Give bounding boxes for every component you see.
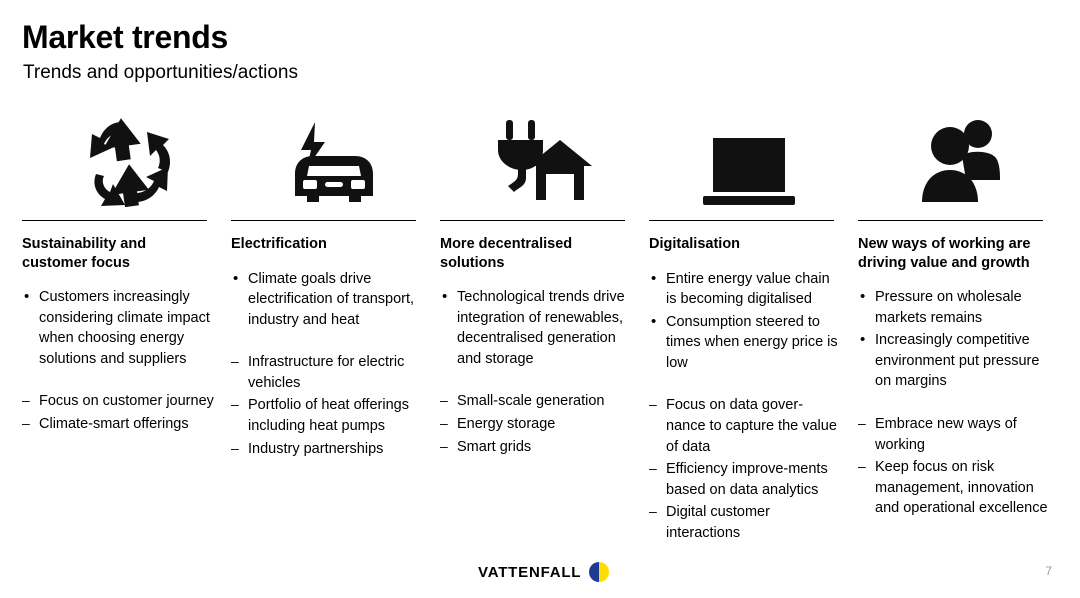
column-divider	[858, 220, 1043, 221]
list-item: Entire energy value chain is becoming di…	[649, 269, 842, 310]
column-divider	[440, 220, 625, 221]
column-heading: Sustainability and customer focus	[22, 235, 215, 272]
column-actions: Small-scale generation Energy storage Sm…	[440, 391, 633, 457]
list-item: Embrace new ways of working	[858, 414, 1051, 455]
house-plug-icon	[440, 112, 633, 212]
page-subtitle: Trends and opportunities/actions	[23, 62, 298, 84]
column-heading: Digitalisation	[649, 235, 842, 254]
list-item: Energy storage	[440, 414, 633, 435]
column-bullets: Customers increasingly considering clima…	[22, 287, 215, 369]
column-actions: Infrastructure for electric vehicles Por…	[231, 352, 424, 459]
list-item: Increasingly competitive environment put…	[858, 330, 1051, 392]
column-ways-of-working: New ways of working are driving value an…	[858, 112, 1067, 545]
logo-wordmark: VATTENFALL	[478, 564, 581, 581]
column-actions: Embrace new ways of working Keep focus o…	[858, 414, 1051, 519]
list-item: Digital customer interactions	[649, 502, 842, 543]
column-bullets: Technological trends drive integration o…	[440, 287, 633, 369]
list-item: Focus on customer journey	[22, 391, 215, 412]
column-bullets: Climate goals drive electrification of t…	[231, 269, 424, 331]
column-electrification: Electrification Climate goals drive elec…	[231, 112, 440, 545]
column-actions: Focus on data gover-nance to capture the…	[649, 395, 842, 543]
column-divider	[22, 220, 207, 221]
electric-car-icon	[231, 112, 424, 212]
slide: Market trends Trends and opportunities/a…	[0, 0, 1080, 598]
column-digitalisation: Digitalisation Entire energy value chain…	[649, 112, 858, 545]
list-item: Portfolio of heat offerings including he…	[231, 395, 424, 436]
vattenfall-logo: VATTENFALL	[478, 562, 609, 582]
column-actions: Focus on customer journey Climate-smart …	[22, 391, 215, 434]
column-heading: Electrification	[231, 235, 424, 254]
column-divider	[231, 220, 416, 221]
list-item: Pressure on wholesale markets remains	[858, 287, 1051, 328]
column-sustainability: Sustainability and customer focus Custom…	[22, 112, 231, 545]
list-item: Smart grids	[440, 437, 633, 458]
list-item: Focus on data gover-nance to capture the…	[649, 395, 842, 457]
logo-mark-icon	[589, 562, 609, 582]
recycling-icon	[22, 112, 215, 212]
list-item: Consumption steered to times when energy…	[649, 312, 842, 374]
list-item: Climate-smart offerings	[22, 414, 215, 435]
column-divider	[649, 220, 834, 221]
column-heading: New ways of working are driving value an…	[858, 235, 1051, 272]
list-item: Infrastructure for electric vehicles	[231, 352, 424, 393]
column-bullets: Entire energy value chain is becoming di…	[649, 269, 842, 374]
list-item: Climate goals drive electrification of t…	[231, 269, 424, 331]
column-heading: More decentralised solutions	[440, 235, 633, 272]
list-item: Technological trends drive integration o…	[440, 287, 633, 369]
column-bullets: Pressure on wholesale markets remains In…	[858, 287, 1051, 392]
list-item: Small-scale generation	[440, 391, 633, 412]
page-number: 7	[1045, 564, 1052, 578]
column-decentralised: More decentralised solutions Technologic…	[440, 112, 649, 545]
laptop-icon	[649, 112, 842, 212]
trend-columns: Sustainability and customer focus Custom…	[22, 112, 1068, 545]
list-item: Industry partnerships	[231, 439, 424, 460]
list-item: Keep focus on risk management, innovatio…	[858, 457, 1051, 519]
list-item: Efficiency improve-ments based on data a…	[649, 459, 842, 500]
page-title: Market trends	[22, 20, 228, 55]
people-icon	[858, 112, 1051, 212]
list-item: Customers increasingly considering clima…	[22, 287, 215, 369]
